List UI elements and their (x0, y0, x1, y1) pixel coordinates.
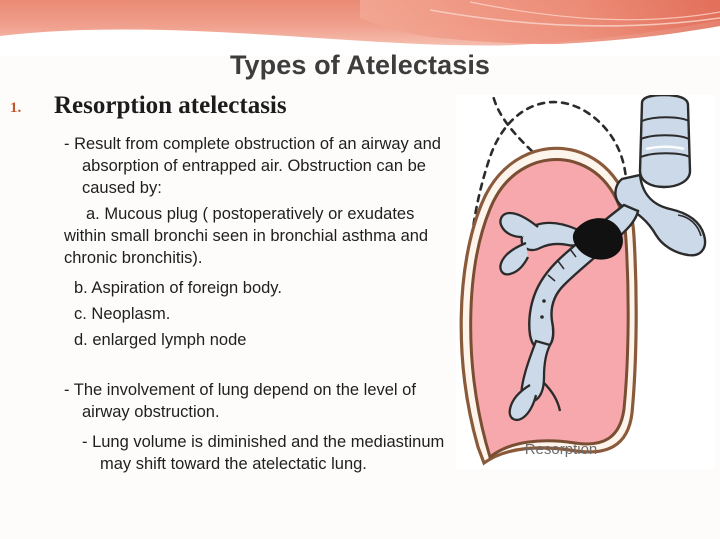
heading-row: 1. Resorption atelectasis (0, 92, 455, 128)
cause-item-d: d. enlarged lymph node (64, 330, 449, 352)
content-column: 1. Resorption atelectasis - Result from … (0, 92, 455, 532)
note-lung-volume: - Lung volume is diminished and the medi… (64, 432, 475, 476)
list-number-marker: 1. (10, 100, 21, 117)
header-wave-graphic (0, 0, 720, 56)
page-title: Types of Atelectasis (0, 50, 720, 81)
slide-header-decoration (0, 0, 720, 56)
section-heading: Resorption atelectasis (54, 92, 287, 120)
cause-item-b: b. Aspiration of foreign body. (64, 278, 449, 300)
figure-caption: Resorption (456, 441, 666, 458)
paragraph-intro: - Result from complete obstruction of an… (64, 134, 467, 199)
resorption-atelectasis-illustration (456, 95, 714, 469)
lung-diagram-panel (456, 95, 714, 469)
trachea (640, 95, 690, 187)
cause-item-c: c. Neoplasm. (64, 304, 449, 326)
note-involvement: - The involvement of lung depend on the … (64, 380, 467, 424)
cause-item-a: a. Mucous plug ( postoperatively or exud… (64, 204, 449, 269)
